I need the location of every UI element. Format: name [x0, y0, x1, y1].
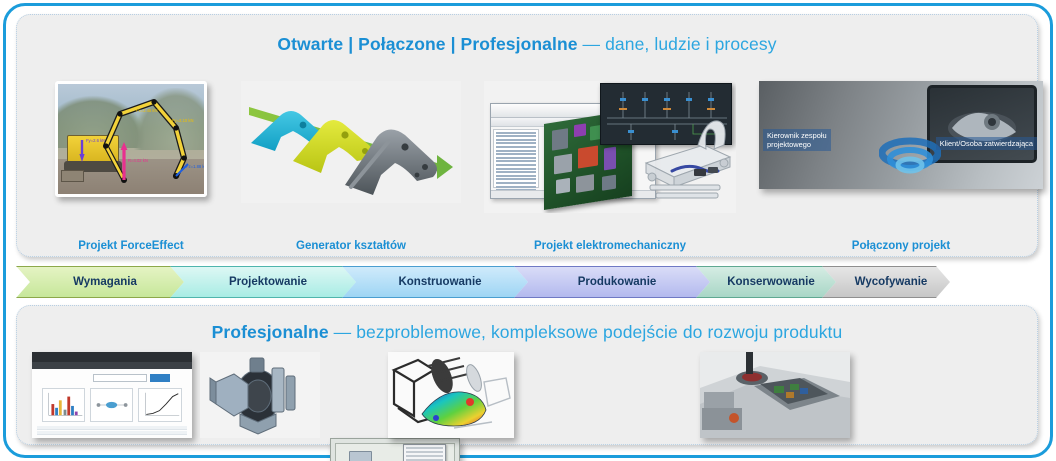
dashboard-table-row	[37, 431, 187, 435]
process-step-projektowanie[interactable]: Projektowanie	[170, 266, 356, 298]
svg-text:Fy=2.10 kN: Fy=2.10 kN	[172, 118, 194, 123]
connected-design-collaboration-photo: Kierownik zespołu projektowego Klient/Os…	[759, 81, 1043, 189]
process-step-label: Konstruowanie	[388, 276, 481, 288]
plm-dashboard-charts-screenshot	[32, 352, 192, 438]
top-cell-connected-design: Kierownik zespołu projektowego Klient/Os…	[747, 81, 1055, 256]
infographic-root: Otwarte | Połączone | Profesjonalne — da…	[0, 0, 1056, 461]
top-heading: Otwarte | Połączone | Profesjonalne — da…	[17, 34, 1037, 55]
3d-assembly-machine-render	[200, 352, 320, 438]
top-cell-electromechanical: Projekt elektromechaniczny	[473, 81, 747, 256]
process-step-label: Produkowanie	[568, 276, 657, 288]
overlay-label-project-manager: Kierownik zespołu projektowego	[763, 129, 831, 151]
dashboard-search-button[interactable]	[150, 374, 169, 382]
bottom-heading: Profesjonalne — bezproblemowe, komplekso…	[17, 322, 1037, 343]
drawing-viewport	[349, 451, 372, 461]
svg-text:Fz=1.88 kN: Fz=1.88 kN	[186, 164, 207, 169]
svg-text:Fy=2.6 kN: Fy=2.6 kN	[86, 138, 105, 143]
top-cell-force-effect: Fx=3.45 kN Fy=2.10 kN R=4.02 kN Fz=1.88 …	[33, 81, 229, 256]
properties-dialog	[403, 444, 447, 461]
dashboard-line-chart-card	[138, 388, 183, 422]
process-step-produkowanie[interactable]: Produkowanie	[514, 266, 710, 298]
svg-text:Fx=3.45 kN: Fx=3.45 kN	[136, 108, 158, 113]
caption-connected-design: Połączony projekt	[747, 240, 1055, 252]
force-overlay-svg: Fx=3.45 kN Fy=2.10 kN R=4.02 kN Fz=1.88 …	[58, 84, 207, 197]
line-chart	[139, 389, 182, 421]
top-heading-rest: — dane, ludzie i procesy	[578, 34, 777, 54]
caption-electromechanical: Projekt elektromechaniczny	[473, 240, 747, 252]
cad-drawing-sheet-screenshot	[330, 438, 460, 461]
generative-shape-brackets-render	[241, 81, 461, 203]
bar-chart	[43, 389, 84, 421]
dashboard-search-field[interactable]	[93, 374, 147, 382]
process-step-label: Projektowanie	[219, 276, 307, 288]
top-cell-shape-generator: Generator kształtów	[229, 81, 473, 256]
cad-feature-tree	[493, 129, 539, 188]
process-step-konserwowanie[interactable]: Konserwowanie	[696, 266, 836, 298]
process-step-label: Wycofywanie	[845, 276, 928, 288]
excavator-force-analysis-photo: Fx=3.45 kN Fy=2.10 kN R=4.02 kN Fz=1.88 …	[55, 81, 207, 197]
tablet-device	[927, 85, 1037, 163]
caption-shape-generator: Generator kształtów	[229, 240, 473, 252]
svg-text:R=4.02 kN: R=4.02 kN	[128, 158, 148, 163]
blue-swirl-graphic	[879, 127, 941, 179]
bottom-heading-rest: — bezproblemowe, kompleksowe podejście d…	[329, 322, 843, 342]
lifecycle-process-bar: WymaganiaProjektowanieKonstruowanieProdu…	[16, 266, 1038, 298]
dashboard-network-card	[90, 388, 133, 422]
dashboard-navbar	[32, 362, 192, 369]
electromechanical-cad-pcb-schematic	[484, 81, 736, 213]
top-panel: Otwarte | Połączone | Profesjonalne — da…	[16, 14, 1038, 257]
overlay-label-client-approver: Klient/Osoba zatwierdzająca	[936, 137, 1037, 150]
dashboard-titlebar	[32, 352, 192, 362]
fea-stress-analysis-suspension-render	[388, 352, 514, 438]
dashboard-table-row	[37, 426, 187, 430]
brackets-svg	[241, 81, 461, 203]
bottom-heading-bold: Profesjonalne	[212, 322, 329, 342]
process-step-konstruowanie[interactable]: Konstruowanie	[342, 266, 528, 298]
process-step-label: Konserwowanie	[717, 276, 815, 288]
process-step-label: Wymagania	[63, 276, 137, 288]
process-step-wycofywanie[interactable]: Wycofywanie	[822, 266, 950, 298]
top-heading-bold: Otwarte | Połączone | Profesjonalne	[277, 34, 577, 54]
caption-force-effect: Projekt ForceEffect	[33, 240, 229, 252]
network-diagram	[91, 389, 132, 421]
car-seat-frame-3d	[632, 111, 736, 211]
cnc-machining-mold-photo	[700, 352, 850, 438]
process-step-wymagania[interactable]: Wymagania	[16, 266, 184, 298]
dashboard-bar-chart-card	[42, 388, 85, 422]
